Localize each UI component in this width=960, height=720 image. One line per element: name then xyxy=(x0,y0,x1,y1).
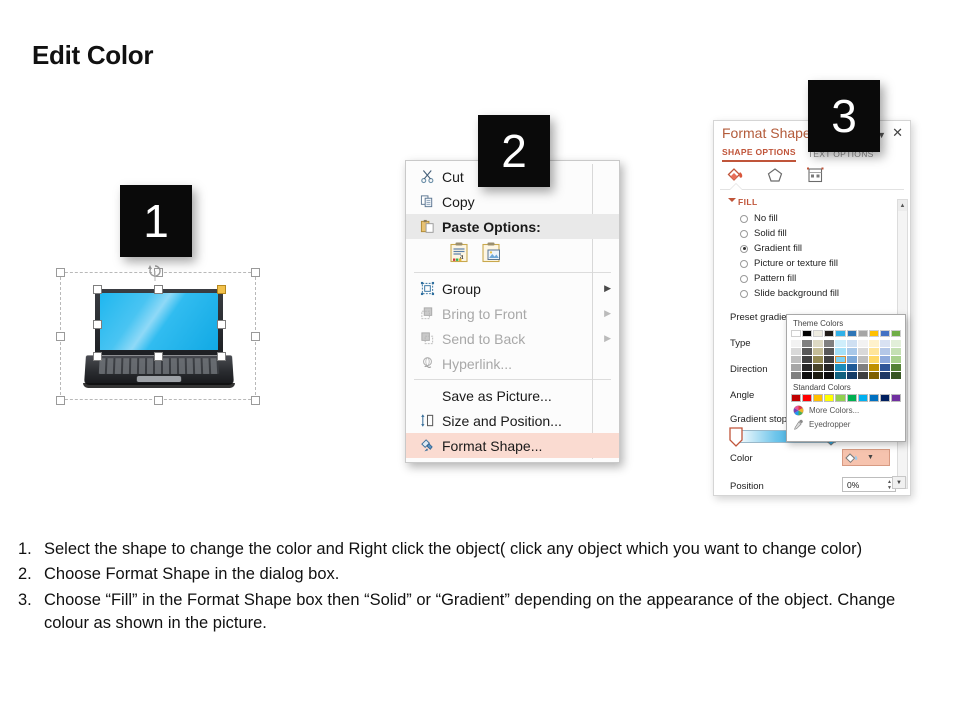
panel-divider xyxy=(720,189,904,190)
panel-expand-button[interactable]: ▼ xyxy=(892,476,906,489)
laptop-foot xyxy=(83,383,235,388)
close-icon[interactable]: ✕ xyxy=(892,125,903,141)
theme-color-swatch[interactable] xyxy=(824,372,834,379)
context-menu-label: Group xyxy=(442,281,604,297)
paste-icon xyxy=(412,216,442,237)
radio-gradient-fill[interactable]: Gradient fill xyxy=(740,243,802,254)
outer-handle-se[interactable] xyxy=(251,396,260,405)
theme-color-swatch[interactable] xyxy=(891,364,901,371)
theme-color-column[interactable] xyxy=(891,330,901,379)
theme-colors-title: Theme Colors xyxy=(793,319,901,328)
theme-color-swatch[interactable] xyxy=(858,372,868,379)
radio-label: Picture or texture fill xyxy=(754,258,838,269)
radio-indicator[interactable] xyxy=(740,260,748,268)
theme-color-column[interactable] xyxy=(858,330,868,379)
menu-separator xyxy=(414,272,611,273)
radio-label: No fill xyxy=(754,213,778,224)
context-menu-item-size-and-position[interactable]: Size and Position... xyxy=(406,408,619,433)
theme-color-swatch[interactable] xyxy=(824,340,834,347)
size-position-icon xyxy=(412,410,442,431)
theme-colors-grid[interactable] xyxy=(791,330,901,379)
inner-handle-ne[interactable] xyxy=(217,285,226,294)
theme-color-column[interactable] xyxy=(847,330,857,379)
theme-color-swatch[interactable] xyxy=(791,348,801,355)
group-icon xyxy=(412,278,442,299)
standard-color-swatch[interactable] xyxy=(813,394,823,402)
fill-section-label: FILL xyxy=(738,197,758,207)
radio-indicator[interactable] xyxy=(740,230,748,238)
submenu-arrow-icon: ▶ xyxy=(604,308,611,319)
theme-color-swatch[interactable] xyxy=(813,372,823,379)
instruction-text: Choose “Fill” in the Format Shape box th… xyxy=(44,589,944,636)
theme-color-swatch[interactable] xyxy=(791,330,801,337)
theme-color-swatch-selected[interactable] xyxy=(835,356,845,363)
radio-indicator[interactable] xyxy=(740,275,748,283)
context-menu-item-paste-options: Paste Options: xyxy=(406,214,619,239)
theme-color-swatch[interactable] xyxy=(791,340,801,347)
theme-color-swatch[interactable] xyxy=(869,364,879,371)
picture-icon[interactable] xyxy=(480,241,502,268)
theme-color-swatch[interactable] xyxy=(813,330,823,337)
instruction-text: Select the shape to change the color and… xyxy=(44,538,944,561)
theme-color-swatch[interactable] xyxy=(880,364,890,371)
theme-color-swatch[interactable] xyxy=(813,364,823,371)
outer-handle-w[interactable] xyxy=(56,332,65,341)
label-color: Color xyxy=(730,453,753,464)
context-menu-item-hyperlink: Hyperlink... xyxy=(406,351,619,376)
theme-color-swatch[interactable] xyxy=(858,364,868,371)
standard-color-swatch[interactable] xyxy=(891,394,901,402)
standard-colors-grid[interactable] xyxy=(791,394,901,402)
instruction-text: Choose Format Shape in the dialog box. xyxy=(44,563,944,586)
theme-color-column[interactable] xyxy=(869,330,879,379)
inner-handle-e[interactable] xyxy=(217,320,226,329)
eyedropper-icon xyxy=(793,419,804,430)
no-icon-spacer xyxy=(412,385,442,406)
theme-color-swatch[interactable] xyxy=(835,330,845,337)
color-fill-icon xyxy=(843,451,865,465)
instruction-item: 2. Choose Format Shape in the dialog box… xyxy=(14,563,944,586)
outer-handle-s[interactable] xyxy=(154,396,163,405)
radio-indicator-selected[interactable] xyxy=(740,245,748,253)
instruction-item: 1. Select the shape to change the color … xyxy=(14,538,944,561)
theme-color-swatch[interactable] xyxy=(802,372,812,379)
inner-handle-se[interactable] xyxy=(217,352,226,361)
context-menu-label: Size and Position... xyxy=(442,413,619,429)
laptop-screen[interactable] xyxy=(100,293,218,350)
theme-color-swatch[interactable] xyxy=(835,340,845,347)
label-direction: Direction xyxy=(730,364,768,375)
theme-color-swatch[interactable] xyxy=(813,356,823,363)
theme-color-swatch[interactable] xyxy=(880,372,890,379)
context-menu-label: Save as Picture... xyxy=(442,388,619,404)
outer-handle-e[interactable] xyxy=(251,332,260,341)
context-menu-label: Send to Back xyxy=(442,331,604,347)
context-menu-item-save-as-picture[interactable]: Save as Picture... xyxy=(406,383,619,408)
context-menu-item-send-to-back: Send to Back ▶ xyxy=(406,326,619,351)
send-back-icon xyxy=(412,328,442,349)
tab-pointer-arrow xyxy=(730,184,742,190)
theme-color-swatch[interactable] xyxy=(824,364,834,371)
theme-color-swatch[interactable] xyxy=(891,372,901,379)
submenu-arrow-icon: ▶ xyxy=(604,333,611,344)
tab-shape-options[interactable]: SHAPE OPTIONS xyxy=(722,147,796,162)
bring-front-icon xyxy=(412,303,442,324)
outer-handle-nw[interactable] xyxy=(56,268,65,277)
radio-label: Slide background fill xyxy=(754,288,839,299)
inner-handle-n[interactable] xyxy=(154,285,163,294)
keep-text-only-icon[interactable]: a xyxy=(448,241,470,268)
pentagon-effects-icon[interactable] xyxy=(764,165,786,185)
theme-color-swatch[interactable] xyxy=(891,340,901,347)
standard-color-swatch[interactable] xyxy=(835,394,845,402)
theme-color-swatch[interactable] xyxy=(891,348,901,355)
size-properties-icon[interactable] xyxy=(804,165,826,185)
outer-handle-ne[interactable] xyxy=(251,268,260,277)
inner-handle-sw[interactable] xyxy=(93,352,102,361)
theme-color-swatch[interactable] xyxy=(824,348,834,355)
radio-label: Gradient fill xyxy=(754,243,802,254)
scissors-icon xyxy=(412,166,442,187)
radio-indicator[interactable] xyxy=(740,290,748,298)
context-menu-label: Copy xyxy=(442,194,619,210)
radio-pattern-fill[interactable]: Pattern fill xyxy=(740,273,796,284)
theme-color-swatch[interactable] xyxy=(813,348,823,355)
theme-color-swatch[interactable] xyxy=(847,348,857,355)
radio-picture-or-texture-fill[interactable]: Picture or texture fill xyxy=(740,258,838,269)
radio-label: Pattern fill xyxy=(754,273,796,284)
theme-color-column[interactable] xyxy=(802,330,812,379)
rotate-handle-icon[interactable] xyxy=(145,260,165,282)
theme-color-swatch[interactable] xyxy=(869,356,879,363)
format-shape-toolbar[interactable] xyxy=(724,165,826,185)
label-position: Position xyxy=(730,481,764,492)
context-menu-label: Hyperlink... xyxy=(442,356,619,372)
context-menu-item-bring-to-front: Bring to Front ▶ xyxy=(406,301,619,326)
theme-color-swatch[interactable] xyxy=(858,348,868,355)
context-menu-item-group[interactable]: Group ▶ xyxy=(406,276,619,301)
context-menu-label: Format Shape... xyxy=(442,438,619,454)
theme-color-swatch[interactable] xyxy=(802,340,812,347)
theme-color-swatch[interactable] xyxy=(835,372,845,379)
inner-handle-w[interactable] xyxy=(93,320,102,329)
paste-options-row[interactable]: a xyxy=(406,239,619,269)
context-menu[interactable]: Cut Copy Paste Options: xyxy=(405,160,620,463)
standard-colors-title: Standard Colors xyxy=(793,383,901,392)
menu-separator xyxy=(414,379,611,380)
laptop-trackpad xyxy=(137,376,181,382)
instruction-number: 3. xyxy=(14,589,44,636)
theme-color-swatch[interactable] xyxy=(847,330,857,337)
instruction-list: 1. Select the shape to change the color … xyxy=(14,538,944,638)
page-title: Edit Color xyxy=(32,40,153,71)
label-gradient-stops: Gradient stop xyxy=(730,414,787,425)
theme-color-swatch[interactable] xyxy=(791,372,801,379)
theme-color-swatch[interactable] xyxy=(880,340,890,347)
theme-color-swatch[interactable] xyxy=(858,340,868,347)
more-colors-label: More Colors... xyxy=(809,406,859,415)
standard-color-swatch[interactable] xyxy=(802,394,812,402)
color-picker-button[interactable]: ▼ xyxy=(842,449,890,466)
instruction-number: 2. xyxy=(14,563,44,586)
standard-color-swatch[interactable] xyxy=(858,394,868,402)
theme-color-swatch[interactable] xyxy=(880,348,890,355)
theme-color-swatch[interactable] xyxy=(824,330,834,337)
radio-no-fill[interactable]: No fill xyxy=(740,213,778,224)
label-angle: Angle xyxy=(730,390,754,401)
theme-color-swatch[interactable] xyxy=(847,372,857,379)
inner-handle-nw[interactable] xyxy=(93,285,102,294)
theme-color-swatch[interactable] xyxy=(858,356,868,363)
context-menu-item-copy[interactable]: Copy xyxy=(406,189,619,214)
theme-color-column[interactable] xyxy=(880,330,890,379)
hyperlink-icon xyxy=(412,353,442,374)
radio-indicator[interactable] xyxy=(740,215,748,223)
eyedropper-row[interactable]: Eyedropper xyxy=(791,419,901,430)
theme-color-swatch[interactable] xyxy=(802,364,812,371)
position-value: 0% xyxy=(847,480,859,490)
step-badge-2: 2 xyxy=(478,115,550,187)
color-wheel-icon xyxy=(793,405,804,416)
theme-color-swatch[interactable] xyxy=(802,330,812,337)
theme-color-swatch[interactable] xyxy=(813,340,823,347)
theme-color-swatch[interactable] xyxy=(847,364,857,371)
gradient-stop-marker-1[interactable] xyxy=(728,427,746,447)
step-badge-1: 1 xyxy=(120,185,192,257)
theme-color-swatch[interactable] xyxy=(835,364,845,371)
position-input[interactable]: 0% ▲▼ xyxy=(842,477,896,492)
context-menu-label: Paste Options: xyxy=(442,219,619,235)
theme-color-column[interactable] xyxy=(791,330,801,379)
theme-color-swatch[interactable] xyxy=(791,356,801,363)
copy-icon xyxy=(412,191,442,212)
eyedropper-label: Eyedropper xyxy=(809,420,850,429)
radio-label: Solid fill xyxy=(754,228,787,239)
standard-color-swatch[interactable] xyxy=(791,394,801,402)
radio-solid-fill[interactable]: Solid fill xyxy=(740,228,787,239)
step-badge-3: 3 xyxy=(808,80,880,152)
more-colors-row[interactable]: More Colors... xyxy=(791,405,901,416)
theme-color-swatch[interactable] xyxy=(869,330,879,337)
context-menu-label: Bring to Front xyxy=(442,306,604,322)
radio-slide-background-fill[interactable]: Slide background fill xyxy=(740,288,839,299)
theme-color-swatch[interactable] xyxy=(858,330,868,337)
theme-color-swatch[interactable] xyxy=(802,356,812,363)
theme-color-column[interactable] xyxy=(813,330,823,379)
theme-color-column[interactable] xyxy=(824,330,834,379)
scroll-up-arrow-icon[interactable]: ▲ xyxy=(898,200,907,211)
inner-handle-s[interactable] xyxy=(154,352,163,361)
theme-color-swatch[interactable] xyxy=(880,330,890,337)
laptop-lid xyxy=(95,289,223,355)
outer-handle-sw[interactable] xyxy=(56,396,65,405)
theme-color-swatch[interactable] xyxy=(847,340,857,347)
laptop-selection-group[interactable] xyxy=(60,262,256,407)
instruction-number: 1. xyxy=(14,538,44,561)
theme-color-swatch[interactable] xyxy=(891,330,901,337)
standard-color-swatch[interactable] xyxy=(869,394,879,402)
theme-color-swatch[interactable] xyxy=(802,348,812,355)
theme-color-column[interactable] xyxy=(835,330,845,379)
fill-bucket-icon[interactable] xyxy=(724,165,746,185)
theme-color-swatch[interactable] xyxy=(835,348,845,355)
fill-section-caret-icon[interactable] xyxy=(728,198,736,202)
theme-color-swatch[interactable] xyxy=(824,356,834,363)
standard-color-swatch[interactable] xyxy=(880,394,890,402)
submenu-arrow-icon: ▶ xyxy=(604,283,611,294)
standard-color-swatch[interactable] xyxy=(824,394,834,402)
theme-color-swatch[interactable] xyxy=(891,356,901,363)
theme-color-swatch[interactable] xyxy=(869,340,879,347)
standard-color-swatch[interactable] xyxy=(847,394,857,402)
format-shape-icon xyxy=(412,435,442,456)
theme-color-swatch[interactable] xyxy=(791,364,801,371)
theme-color-swatch[interactable] xyxy=(869,372,879,379)
label-preset-gradients: Preset gradie xyxy=(730,312,787,323)
laptop-image[interactable] xyxy=(85,289,233,393)
context-menu-item-format-shape[interactable]: Format Shape... xyxy=(406,433,619,458)
instruction-item: 3. Choose “Fill” in the Format Shape box… xyxy=(14,589,944,636)
theme-color-swatch[interactable] xyxy=(869,348,879,355)
color-picker-popup[interactable]: Theme Colors Standard Colors More Colors… xyxy=(786,314,906,442)
chevron-down-icon[interactable]: ▼ xyxy=(867,454,874,461)
format-shape-title: Format Shape xyxy=(722,125,811,141)
theme-color-swatch[interactable] xyxy=(880,356,890,363)
theme-color-swatch[interactable] xyxy=(847,356,857,363)
label-type: Type xyxy=(730,338,751,349)
